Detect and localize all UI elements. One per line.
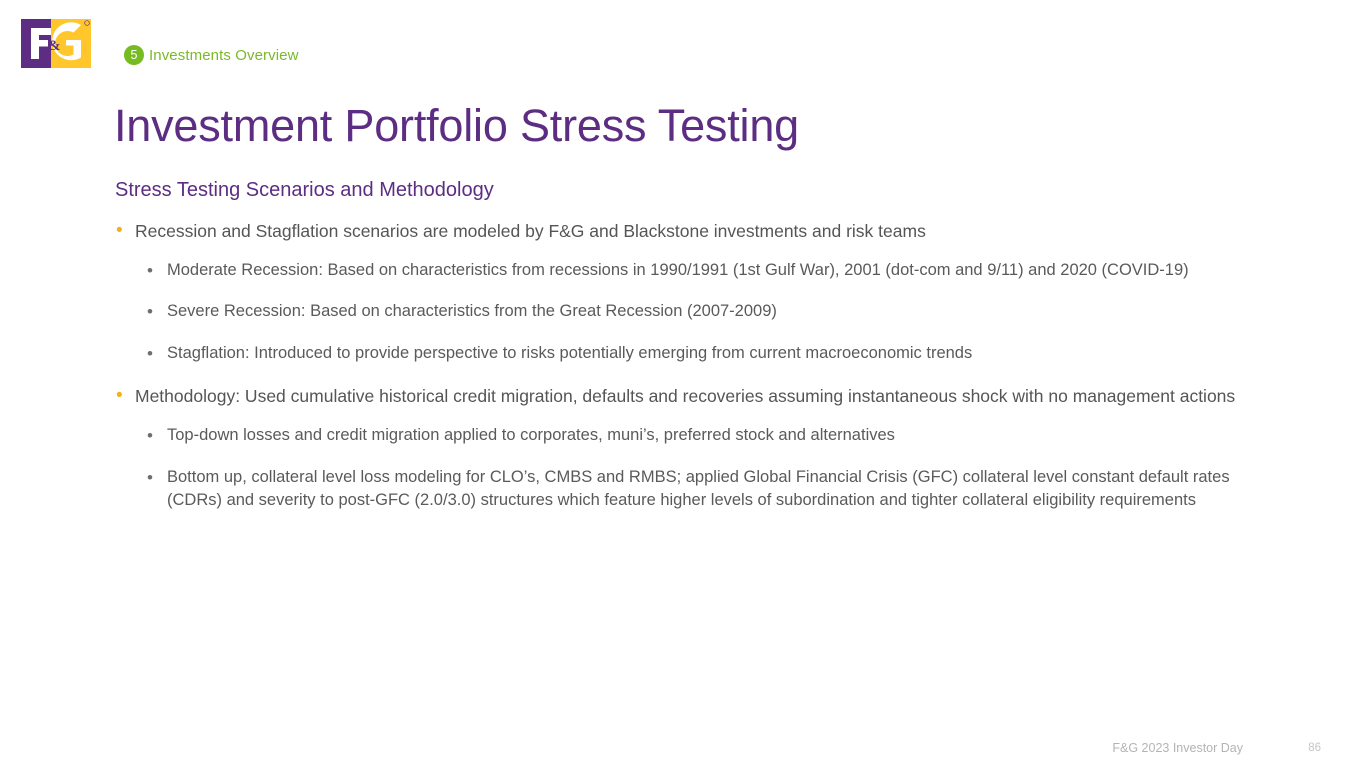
bullet-level2: • Severe Recession: Based on characteris… <box>115 300 1265 323</box>
bullet-text: Top-down losses and credit migration app… <box>167 424 1265 447</box>
bullet-level1: • Methodology: Used cumulative historica… <box>115 384 1265 408</box>
bullet-text: Moderate Recession: Based on characteris… <box>167 259 1265 282</box>
bullet-list: • Recession and Stagflation scenarios ar… <box>115 219 1265 530</box>
slide-footer: F&G 2023 Investor Day 86 <box>0 722 1365 768</box>
fg-logo-icon: & <box>21 19 91 68</box>
bullet-text: Bottom up, collateral level loss modelin… <box>167 466 1265 512</box>
bullet-text: Severe Recession: Based on characteristi… <box>167 300 1265 323</box>
bullet-text: Stagflation: Introduced to provide persp… <box>167 342 1265 365</box>
section-number-badge: 5 <box>124 45 144 65</box>
section-label: Investments Overview <box>149 47 299 64</box>
bullet-level2: • Moderate Recession: Based on character… <box>115 259 1265 282</box>
fg-logo: & <box>21 19 91 68</box>
page-number: 86 <box>1308 742 1321 754</box>
footer-label: F&G 2023 Investor Day <box>1112 741 1243 755</box>
bullet-marker-icon: • <box>147 300 163 323</box>
page-subtitle: Stress Testing Scenarios and Methodology <box>115 177 494 203</box>
bullet-marker-icon: • <box>147 342 163 365</box>
bullet-text: Methodology: Used cumulative historical … <box>135 384 1265 408</box>
bullet-level2: • Stagflation: Introduced to provide per… <box>115 342 1265 365</box>
bullet-marker-icon: • <box>116 219 132 243</box>
section-tag: 5 Investments Overview <box>124 45 299 65</box>
svg-text:&: & <box>48 38 61 54</box>
page-title: Investment Portfolio Stress Testing <box>114 96 799 156</box>
bullet-marker-icon: • <box>147 466 163 489</box>
bullet-level2: • Top-down losses and credit migration a… <box>115 424 1265 447</box>
bullet-marker-icon: • <box>147 259 163 282</box>
slide-header: & 5 Investments Overview <box>0 0 1365 90</box>
slide: & 5 Investments Overview Investment Port… <box>0 0 1365 768</box>
bullet-marker-icon: • <box>147 424 163 447</box>
bullet-level1: • Recession and Stagflation scenarios ar… <box>115 219 1265 243</box>
bullet-level2: • Bottom up, collateral level loss model… <box>115 466 1265 512</box>
bullet-marker-icon: • <box>116 384 132 408</box>
bullet-text: Recession and Stagflation scenarios are … <box>135 219 1265 243</box>
